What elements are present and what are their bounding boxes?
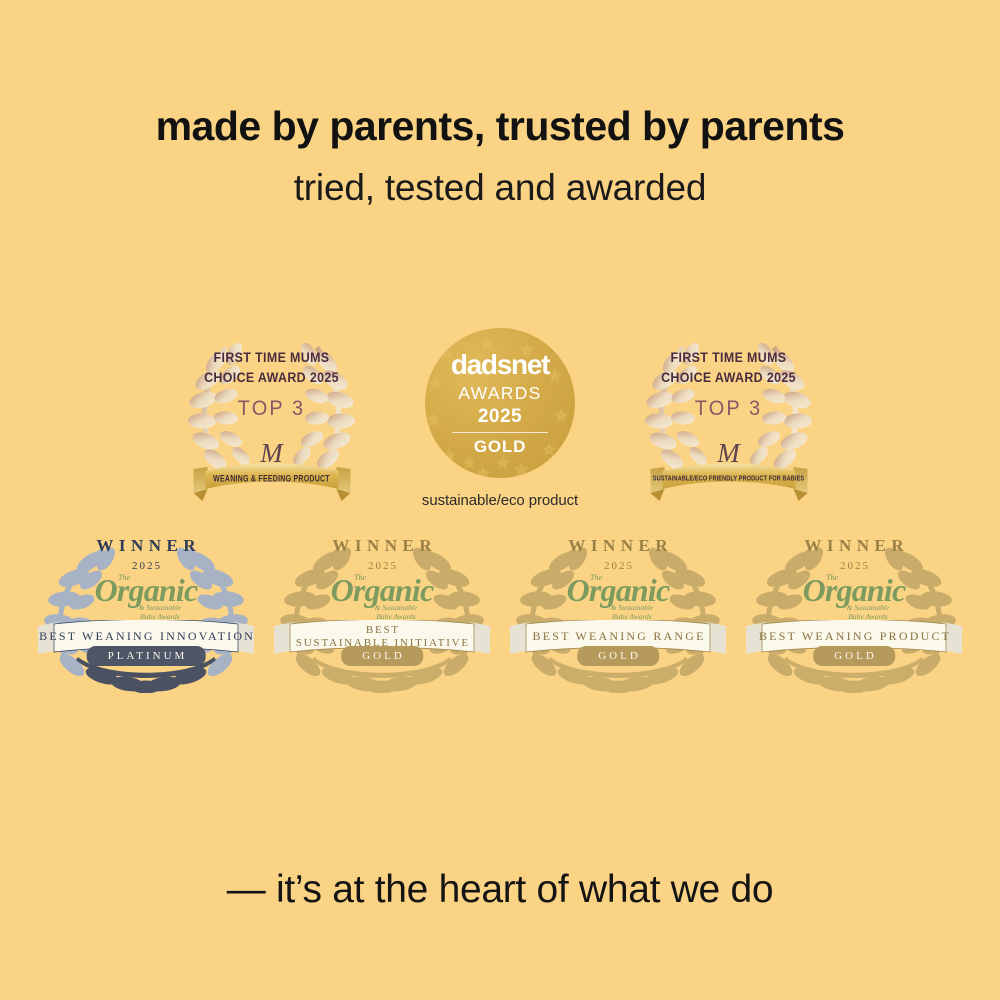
organic-tier-badge: GOLD <box>813 646 895 666</box>
organic-year: 2025 <box>740 560 968 572</box>
organic-tier-badge: PLATINUM <box>87 646 206 666</box>
dadsnet-content: dadsnet AWARDS 2025 GOLD <box>425 328 575 478</box>
dadsnet-logo: dadsnet <box>451 351 549 379</box>
organic-subtitle-line1: & Sustainable <box>768 603 968 612</box>
organic-brand: Organic <box>268 574 496 606</box>
organic-subtitle-line1: & Sustainable <box>296 603 496 612</box>
organic-tier-badge: GOLD <box>577 646 659 666</box>
organic-subtitle: & Sustainable Baby Awards <box>60 603 260 622</box>
badge-first-time-mums-left: FIRST TIME MUMS CHOICE AWARD 2025 TOP 3 … <box>164 318 379 508</box>
ftm-line1: FIRST TIME MUMS <box>630 348 828 368</box>
ftm-heading-right: FIRST TIME MUMS CHOICE AWARD 2025 TOP 3 <box>621 348 836 421</box>
organic-subtitle-line1: & Sustainable <box>60 603 260 612</box>
header-block: made by parents, trusted by parents trie… <box>0 0 1000 209</box>
page-subtitle: tried, tested and awarded <box>0 167 1000 209</box>
organic-logo: The Organic & Sustainable Baby Awards <box>32 574 260 622</box>
ribbon-banner: WEANING & FEEDING PRODUCT <box>189 463 354 510</box>
organic-logo: The Organic & Sustainable Baby Awards <box>268 574 496 622</box>
ftm-ribbon-label: WEANING & FEEDING PRODUCT <box>189 475 354 484</box>
organic-logo: The Organic & Sustainable Baby Awards <box>504 574 732 622</box>
organic-winner-label: WINNER <box>268 536 496 556</box>
ribbon-banner: SUSTAINABLE/ECO FRIENDLY PRODUCT FOR BAB… <box>646 463 811 510</box>
organic-subtitle-line1: & Sustainable <box>532 603 732 612</box>
dadsnet-year: 2025 <box>478 407 522 426</box>
badge-organic-1: WINNER 2025 The Organic & Sustainable Ba… <box>268 528 496 693</box>
badge-organic-3: WINNER 2025 The Organic & Sustainable Ba… <box>740 528 968 693</box>
organic-logo: The Organic & Sustainable Baby Awards <box>740 574 968 622</box>
organic-subtitle: & Sustainable Baby Awards <box>532 603 732 622</box>
organic-year: 2025 <box>268 560 496 572</box>
ftm-line2: CHOICE AWARD 2025 <box>173 368 371 388</box>
badge-organic-0: WINNER 2025 The Organic & Sustainable Ba… <box>32 528 260 693</box>
organic-brand: Organic <box>740 574 968 606</box>
organic-the: The <box>354 573 366 582</box>
organic-winner-label: WINNER <box>740 536 968 556</box>
badge-dadsnet: dadsnet AWARDS 2025 GOLD sustainable/eco… <box>411 318 589 509</box>
organic-tier-badge: GOLD <box>341 646 423 666</box>
organic-category-line1: BEST WEANING PRODUCT <box>757 630 951 644</box>
dadsnet-medallion: dadsnet AWARDS 2025 GOLD <box>425 328 575 478</box>
badge-organic-2: WINNER 2025 The Organic & Sustainable Ba… <box>504 528 732 693</box>
ftm-heading-left: FIRST TIME MUMS CHOICE AWARD 2025 TOP 3 <box>164 348 379 421</box>
organic-category-line1: BEST WEANING INNOVATION <box>37 630 255 644</box>
organic-brand: Organic <box>504 574 732 606</box>
organic-subtitle: & Sustainable Baby Awards <box>768 603 968 622</box>
organic-winner-label: WINNER <box>504 536 732 556</box>
organic-award-row: WINNER 2025 The Organic & Sustainable Ba… <box>0 528 1000 693</box>
dadsnet-tier: GOLD <box>474 438 526 455</box>
ftm-line2: CHOICE AWARD 2025 <box>630 368 828 388</box>
organic-winner-label: WINNER <box>32 536 260 556</box>
ftm-rank: TOP 3 <box>169 397 373 421</box>
dadsnet-awards-label: AWARDS <box>458 385 541 403</box>
ribbon-icon <box>646 463 811 505</box>
top-award-row: FIRST TIME MUMS CHOICE AWARD 2025 TOP 3 … <box>0 318 1000 509</box>
organic-subtitle: & Sustainable Baby Awards <box>296 603 496 622</box>
footer-tagline: — it’s at the heart of what we do <box>0 868 1000 912</box>
organic-category-line1: BEST <box>364 624 400 637</box>
organic-the: The <box>590 573 602 582</box>
organic-the: The <box>118 573 130 582</box>
ftm-line1: FIRST TIME MUMS <box>173 348 371 368</box>
page-title: made by parents, trusted by parents <box>0 104 1000 150</box>
organic-year: 2025 <box>504 560 732 572</box>
organic-year: 2025 <box>32 560 260 572</box>
dadsnet-caption: sustainable/eco product <box>411 492 589 509</box>
ftm-rank: TOP 3 <box>626 397 830 421</box>
organic-brand: Organic <box>32 574 260 606</box>
badge-first-time-mums-right: FIRST TIME MUMS CHOICE AWARD 2025 TOP 3 … <box>621 318 836 508</box>
ftm-ribbon-label: SUSTAINABLE/ECO FRIENDLY PRODUCT FOR BAB… <box>646 475 811 483</box>
organic-the: The <box>826 573 838 582</box>
divider <box>452 432 548 433</box>
organic-category-line1: BEST WEANING RANGE <box>530 630 705 644</box>
